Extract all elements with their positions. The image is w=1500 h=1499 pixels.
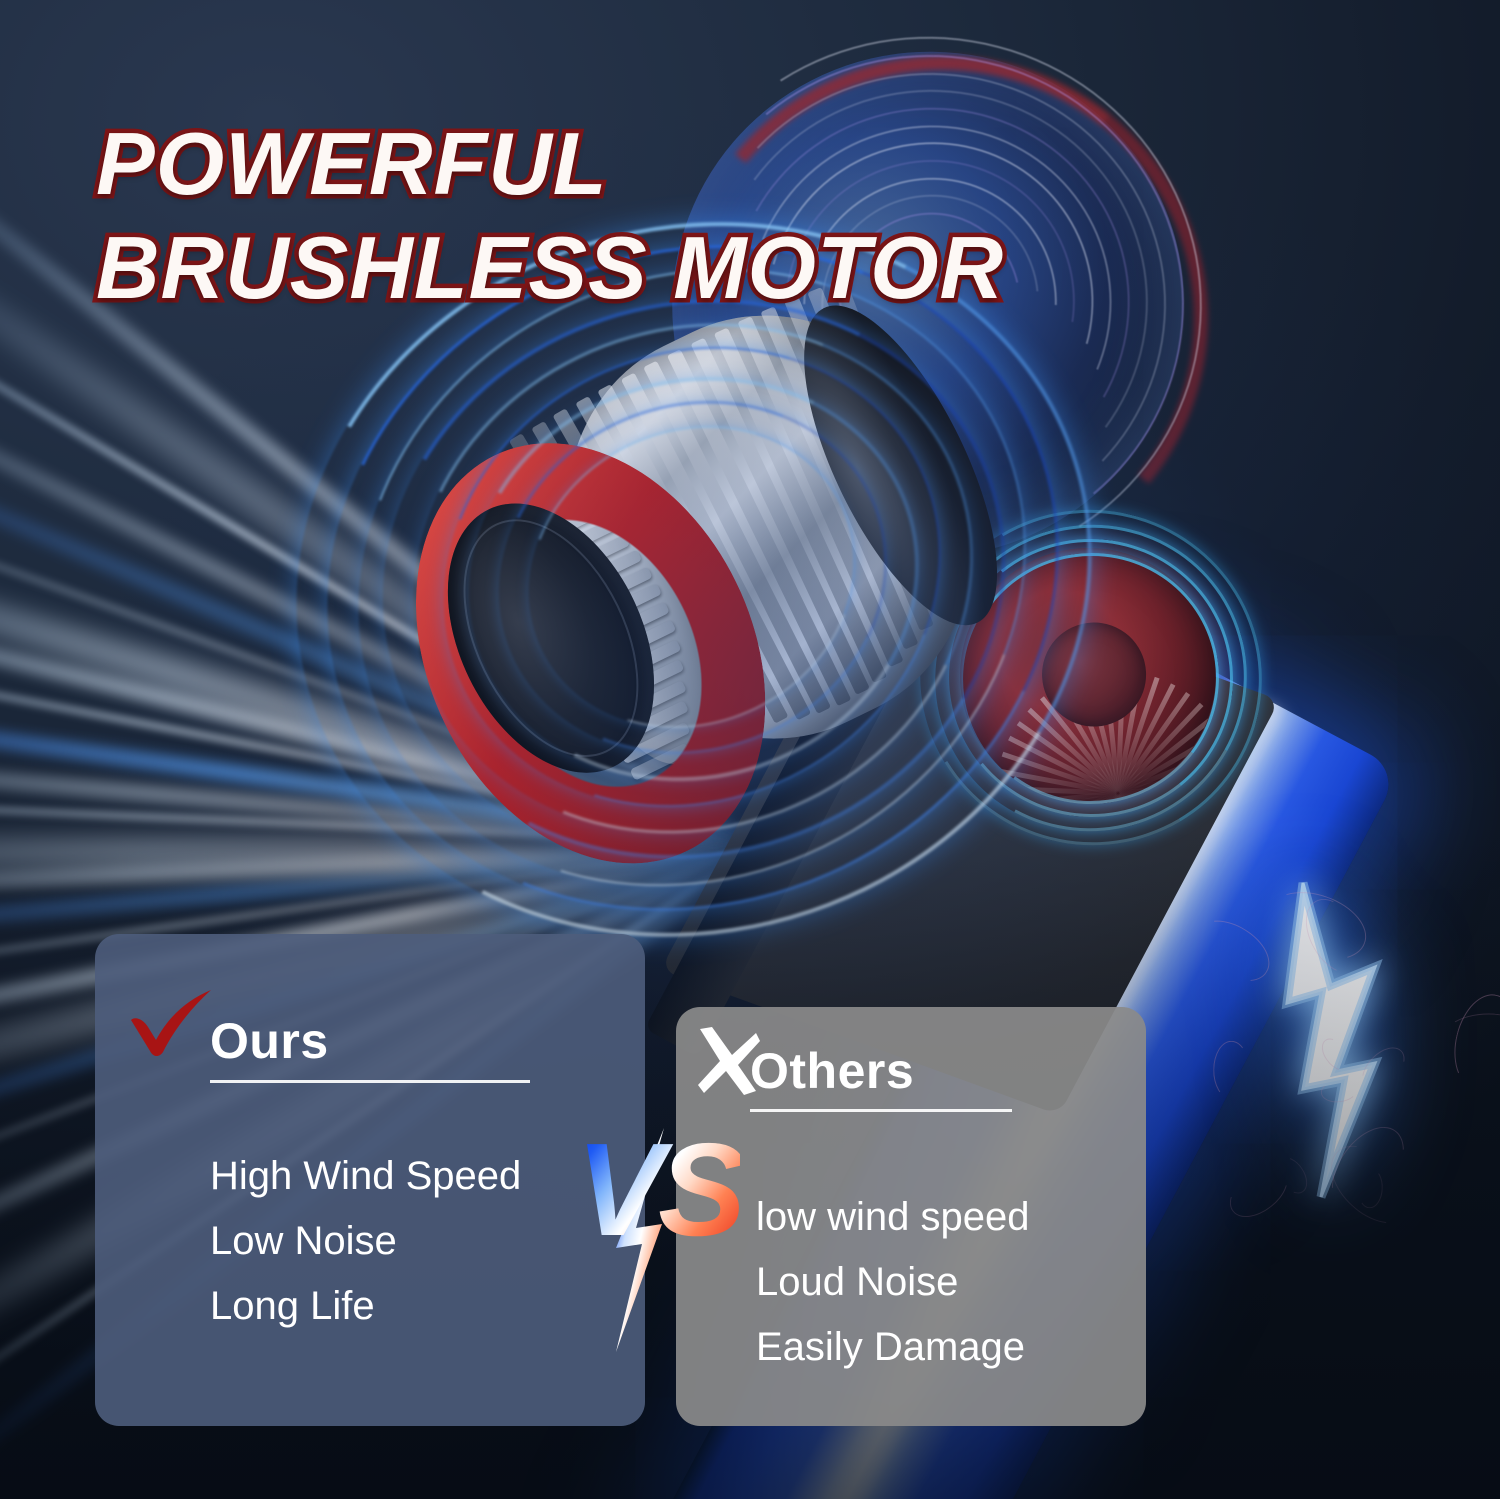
card-heading-underline bbox=[210, 1080, 530, 1083]
feature-list-ours: High Wind Speed Low Noise Long Life bbox=[210, 1144, 521, 1338]
product-feature-banner: POWERFUL BRUSHLESS MOTOR Ours High Wind … bbox=[0, 0, 1500, 1499]
feature-list-others: low wind speed Loud Noise Easily Damage bbox=[756, 1185, 1030, 1379]
list-item: Long Life bbox=[210, 1274, 521, 1339]
list-item: low wind speed bbox=[756, 1185, 1030, 1250]
list-item: High Wind Speed bbox=[210, 1144, 521, 1209]
check-mark-icon bbox=[125, 986, 221, 1058]
list-item: Loud Noise bbox=[756, 1250, 1030, 1315]
list-item: Easily Damage bbox=[756, 1315, 1030, 1380]
page-title: POWERFUL BRUSHLESS MOTOR bbox=[96, 112, 1276, 320]
comparison-card-others: Others low wind speed Loud Noise Easily … bbox=[676, 1007, 1146, 1426]
card-heading-ours: Ours bbox=[210, 1012, 329, 1070]
comparison-card-ours: Ours High Wind Speed Low Noise Long Life bbox=[95, 934, 645, 1426]
card-heading-others: Others bbox=[750, 1042, 914, 1100]
card-heading-underline bbox=[750, 1109, 1012, 1112]
list-item: Low Noise bbox=[210, 1209, 521, 1274]
